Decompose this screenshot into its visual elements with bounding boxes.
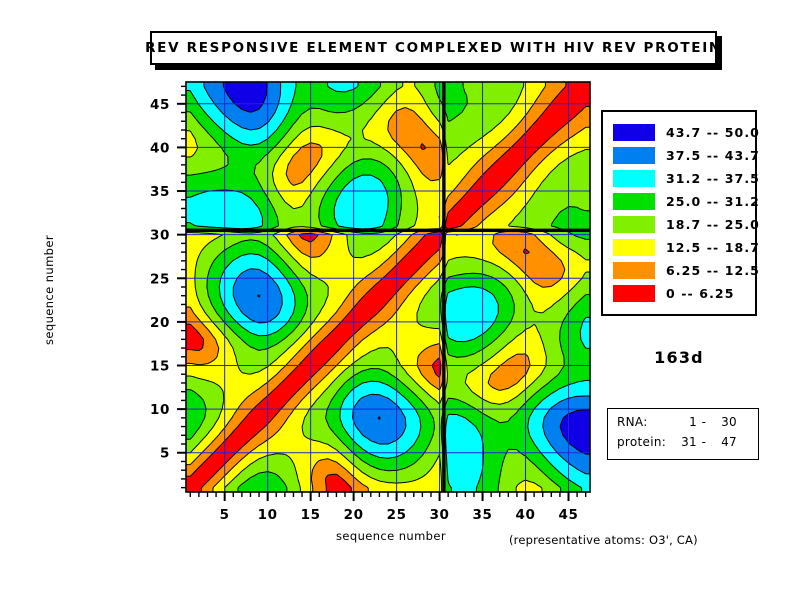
legend-row: 25.0 -- 31.2: [613, 190, 755, 213]
legend-color-swatch: [613, 147, 655, 164]
x-tick-label: 40: [516, 507, 536, 523]
chain-dash: -: [697, 415, 711, 429]
y-tick-label: 20: [150, 315, 170, 331]
chain-end: 47: [711, 435, 737, 449]
legend-range-label: 0 -- 6.25: [666, 286, 735, 301]
x-tick-label: 25: [387, 507, 407, 523]
legend-color-swatch: [613, 285, 655, 302]
legend-row: 0 -- 6.25: [613, 282, 755, 305]
chain-ranges-box: RNA:1-30protein:31-47: [607, 408, 759, 460]
y-tick-label: 40: [150, 140, 170, 156]
legend-range-label: 6.25 -- 12.5: [666, 263, 760, 278]
legend-range-label: 12.5 -- 18.7: [666, 240, 760, 255]
legend-color-swatch: [613, 262, 655, 279]
y-axis-title: sequence number: [42, 210, 56, 370]
legend-row: 12.5 -- 18.7: [613, 236, 755, 259]
y-tick-label: 25: [150, 271, 170, 287]
legend-range-label: 31.2 -- 37.5: [666, 171, 760, 186]
legend-row: 43.7 -- 50.0: [613, 121, 755, 144]
legend-color-swatch: [613, 124, 655, 141]
legend-range-label: 43.7 -- 50.0: [666, 125, 760, 140]
legend-row: 37.5 -- 43.7: [613, 144, 755, 167]
representative-atoms-note: (representative atoms: O3', CA): [509, 533, 698, 547]
x-tick-label: 15: [301, 507, 321, 523]
x-tick-label: 20: [344, 507, 364, 523]
chain-name: RNA:: [617, 415, 671, 429]
chain-name: protein:: [617, 435, 671, 449]
y-tick-label: 35: [150, 184, 170, 200]
legend-color-swatch: [613, 170, 655, 187]
legend-color-swatch: [613, 239, 655, 256]
x-tick-label: 35: [473, 507, 493, 523]
legend-range-label: 37.5 -- 43.7: [666, 148, 760, 163]
chain-end: 30: [711, 415, 737, 429]
x-tick-label: 10: [258, 507, 278, 523]
chain-dash: -: [697, 435, 711, 449]
x-tick-label: 30: [430, 507, 450, 523]
chain-start: 31: [671, 435, 697, 449]
y-tick-label: 5: [160, 446, 170, 462]
color-scale-legend: 43.7 -- 50.037.5 -- 43.731.2 -- 37.525.0…: [601, 110, 757, 316]
legend-row: 31.2 -- 37.5: [613, 167, 755, 190]
y-tick-label: 10: [150, 402, 170, 418]
legend-color-swatch: [613, 193, 655, 210]
legend-color-swatch: [613, 216, 655, 233]
x-axis-title: sequence number: [311, 529, 471, 543]
chain-range-row: protein:31-47: [617, 435, 758, 455]
x-tick-label: 5: [220, 507, 230, 523]
x-tick-label: 45: [559, 507, 579, 523]
legend-range-label: 18.7 -- 25.0: [666, 217, 760, 232]
y-tick-label: 45: [150, 97, 170, 113]
y-tick-label: 30: [150, 228, 170, 244]
chain-start: 1: [671, 415, 697, 429]
chain-range-row: RNA:1-30: [617, 415, 758, 435]
pdb-id-label: 163d: [601, 348, 757, 367]
legend-range-label: 25.0 -- 31.2: [666, 194, 760, 209]
y-tick-label: 15: [150, 359, 170, 375]
legend-row: 18.7 -- 25.0: [613, 213, 755, 236]
contour-field: [186, 82, 590, 492]
legend-row: 6.25 -- 12.5: [613, 259, 755, 282]
